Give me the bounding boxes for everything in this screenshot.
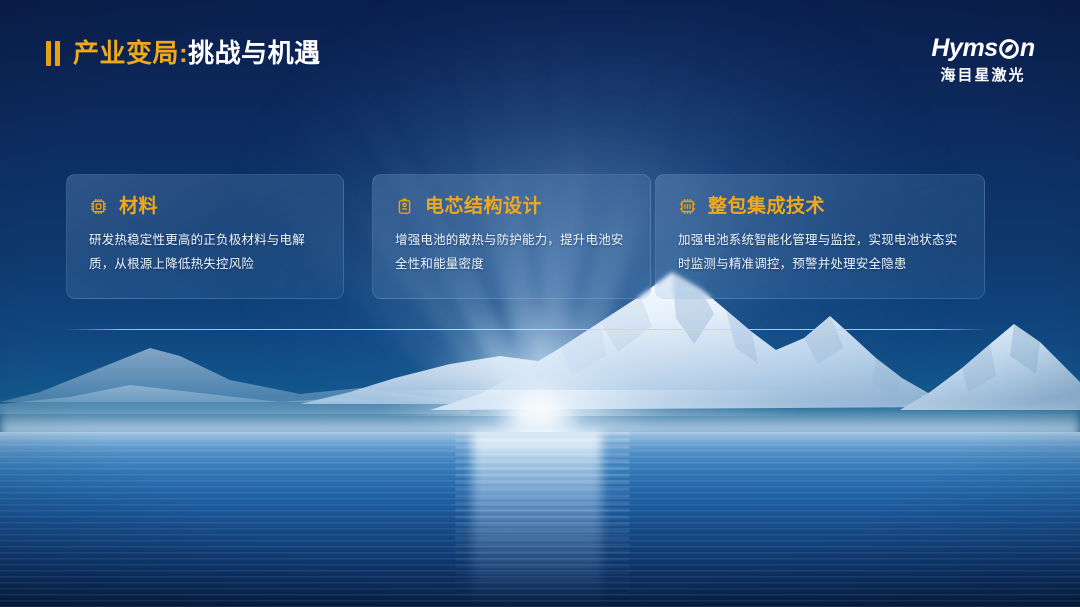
feature-card-pack-integration[interactable]: 整包集成技术 加强电池系统智能化管理与监控，实现电池状态实时监测与精准调控，预警… (655, 174, 985, 299)
logo-leaf-o-icon (999, 39, 1019, 59)
card-title: 电芯结构设计 (425, 197, 542, 216)
company-logo: Hyms n 海目星激光 (908, 36, 1058, 85)
feature-card-cell-structure[interactable]: 电芯结构设计 增强电池的散热与防护能力，提升电池安全性和能量密度 (372, 174, 651, 299)
card-body-text: 增强电池的散热与防护能力，提升电池安全性和能量密度 (395, 228, 628, 277)
title-marker-icon (46, 41, 60, 66)
card-header: 整包集成技术 (678, 197, 962, 216)
chip-integration-icon (678, 197, 697, 216)
logo-wordmark-prefix: Hyms (931, 36, 998, 61)
card-body-text: 加强电池系统智能化管理与监控，实现电池状态实时监测与精准调控，预警并处理安全隐患 (678, 228, 962, 277)
logo-wordmark-suffix: n (1020, 36, 1035, 61)
presentation-slide: 产业变局:挑战与机遇 Hyms n 海目星激光 (0, 0, 1080, 607)
title-main-text: 挑战与机遇 (188, 38, 321, 68)
logo-wordmark: Hyms n (908, 36, 1058, 61)
slide-header: 产业变局:挑战与机遇 Hyms n 海目星激光 (0, 0, 1080, 110)
feature-card-materials[interactable]: 材料 研发热稳定性更高的正负极材料与电解质，从根源上降低热失控风险 (66, 174, 344, 299)
card-title: 整包集成技术 (708, 197, 825, 216)
page-title: 产业变局:挑战与机遇 (46, 40, 321, 66)
section-divider (68, 329, 985, 330)
card-header: 电芯结构设计 (395, 197, 628, 216)
title-accent-text: 产业变局: (73, 38, 188, 68)
card-header: 材料 (89, 197, 321, 216)
card-title: 材料 (119, 197, 158, 216)
battery-icon (395, 197, 414, 216)
feature-cards: 材料 研发热稳定性更高的正负极材料与电解质，从根源上降低热失控风险 (0, 174, 1080, 299)
card-body-text: 研发热稳定性更高的正负极材料与电解质，从根源上降低热失控风险 (89, 228, 321, 277)
title-text-group: 产业变局:挑战与机遇 (73, 40, 321, 66)
logo-subtitle: 海目星激光 (908, 64, 1058, 85)
chip-icon (89, 197, 108, 216)
